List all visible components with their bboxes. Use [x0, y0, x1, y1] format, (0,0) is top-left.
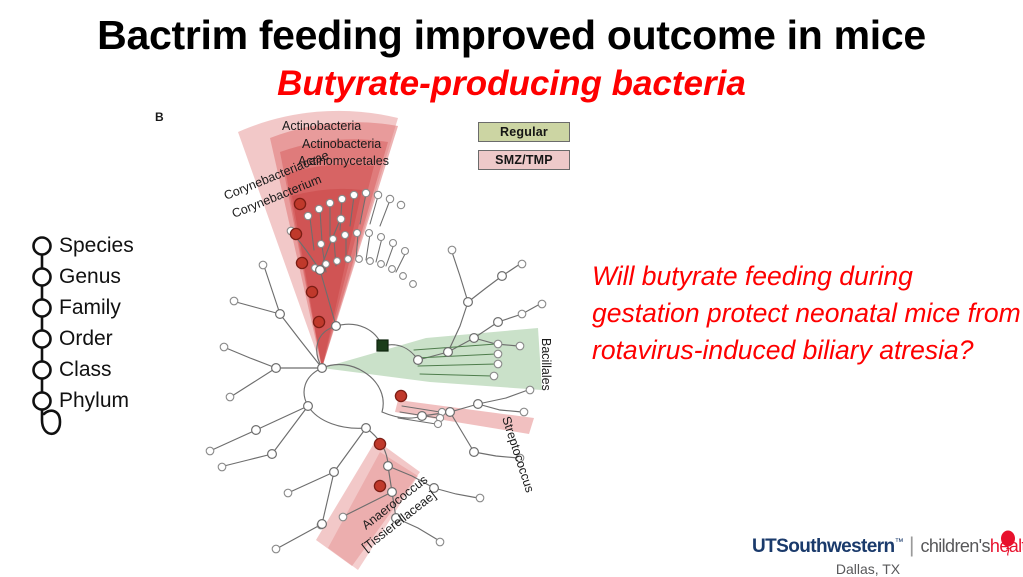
page-subtitle: Butyrate-producing bacteria — [0, 64, 1023, 104]
cladogram-chart: Actinobacteria Actinobacteria Actinomyce… — [130, 100, 580, 576]
childrens-wordmark: children's — [920, 536, 989, 557]
rank-label-phylum: Phylum — [59, 386, 129, 416]
cladogram-svg: Actinobacteria Actinobacteria Actinomyce… — [130, 100, 580, 576]
logo-divider: | — [909, 534, 914, 558]
rank-label-order: Order — [59, 324, 113, 354]
rank-label-class: Class — [59, 355, 112, 385]
ut-southwestern-logo: UTSouthwestern™ — [752, 536, 903, 558]
footer-logos: UTSouthwestern™ | children's health Dall… — [752, 534, 1020, 576]
ut-southwestern-wordmark: UTSouthwestern — [752, 536, 895, 557]
rank-label-genus: Genus — [59, 262, 121, 292]
rank-label-species: Species — [59, 231, 134, 261]
trademark-icon: ™ — [895, 537, 903, 547]
page-title: Bactrim feeding improved outcome in mice — [0, 12, 1023, 58]
enriched-nodes-regular — [377, 340, 388, 351]
rank-label-family: Family — [59, 293, 121, 323]
clade-label-actinobacteria-phylum: Actinobacteria — [282, 119, 361, 133]
research-question-text: Will butyrate feeding during gestation p… — [592, 258, 1023, 369]
clade-label-bacillales: Bacillales — [539, 338, 553, 391]
balloon-icon — [998, 530, 1018, 556]
location-text: Dallas, TX — [752, 561, 984, 577]
clade-label-actinobacteria-class: Actinobacteria — [302, 137, 381, 151]
